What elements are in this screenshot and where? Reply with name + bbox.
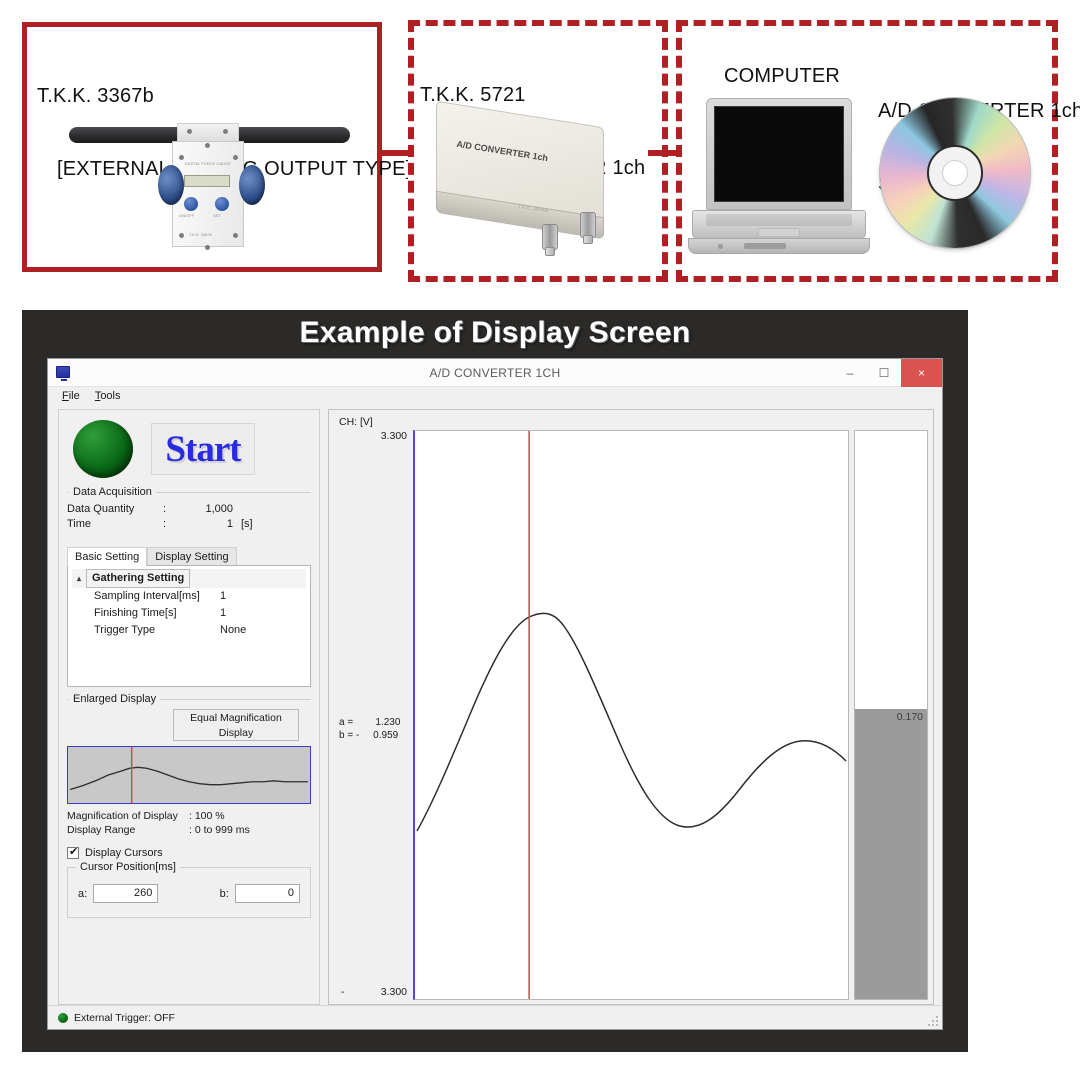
cursor-position-title: Cursor Position[ms] [76, 861, 180, 873]
expand-collapse-icon[interactable]: ▴ [72, 570, 86, 587]
device-micro-text: DIGITAL FORCE GAUGE [185, 161, 231, 166]
cursor-b-input[interactable]: 0 [235, 884, 301, 903]
handlebar-left-icon [69, 127, 187, 143]
cursor-position-group: Cursor Position[ms] a: 260 b: 0 [67, 867, 311, 918]
property-key: Finishing Time[s] [94, 605, 220, 622]
screw-icon [205, 143, 210, 148]
resize-grip-icon[interactable] [926, 1014, 938, 1026]
property-row-finishing-time[interactable]: Finishing Time[s] 1 [72, 605, 306, 622]
label-time: Time [67, 517, 163, 532]
laptop-trackpad [758, 228, 800, 237]
screw-icon [179, 233, 184, 238]
colon: : [163, 517, 179, 532]
menu-bar: File Tools [48, 387, 942, 409]
device-micro-text: T.K.K. 3367b [189, 232, 212, 237]
row-time: Time : 1 [s] [67, 517, 311, 532]
handlebar-right-icon [232, 127, 350, 143]
thumbnail-waveform [68, 747, 310, 803]
device-micro-text: SET [213, 213, 221, 218]
close-button[interactable]: × [901, 359, 942, 387]
left-control-panel: Start Data Acquisition Data Quantity : 1… [58, 409, 320, 1005]
cursor-readout-b: b = - 0.959 [339, 730, 398, 741]
start-row: Start [67, 416, 311, 482]
label-display-range: Display Range [67, 823, 189, 837]
data-acquisition-group: Data Acquisition Data Quantity : 1,000 T… [67, 492, 311, 532]
menu-item-file[interactable]: File [62, 387, 92, 404]
menu-item-tools[interactable]: Tools [95, 387, 133, 404]
waveform-plot[interactable] [413, 430, 849, 1000]
waveform-trace [417, 613, 846, 831]
level-gauge-value: 0.170 [897, 711, 923, 723]
maximize-button[interactable]: ☐ [867, 359, 901, 387]
chart-axis-label: CH: [V] [335, 415, 928, 430]
checkbox-icon[interactable] [67, 847, 79, 859]
y-axis-min-sign: - [341, 986, 345, 998]
y-axis: 3.300 a = 1.230 b = - 0.959 - 3.300 [335, 430, 413, 1000]
property-key: Trigger Type [94, 622, 220, 639]
display-cursors-label: Display Cursors [85, 847, 163, 859]
property-value: 1 [220, 605, 226, 622]
eq-btn-line1: Equal Magnification [174, 711, 298, 726]
property-grid-header[interactable]: ▴ Gathering Setting [72, 569, 306, 588]
level-gauge-fill: 0.170 [855, 709, 927, 999]
device-top-plate [177, 123, 239, 143]
status-lamp-icon [73, 420, 133, 478]
settings-tabstrip: Basic Setting Display Setting [67, 546, 311, 565]
laptop-disc-slot [744, 243, 786, 249]
bnc-connector-icon [583, 235, 593, 244]
label-magnification: Magnification of Display [67, 809, 189, 823]
value-time: 1 [179, 517, 233, 532]
cd-center-hole [942, 160, 968, 186]
cursor-a-label: a: [78, 888, 93, 900]
status-bar-text: External Trigger: OFF [74, 1012, 175, 1024]
screw-icon [205, 245, 210, 250]
cursor-readout: a = 1.230 b = - 0.959 [339, 716, 400, 742]
screw-icon [233, 233, 238, 238]
minimize-button[interactable]: – [833, 359, 867, 387]
wheel-right-icon [239, 165, 265, 205]
laptop-keyboard [706, 214, 852, 226]
connector-sensor-to-adc [382, 150, 410, 156]
computer-image [682, 92, 872, 268]
row-data-quantity: Data Quantity : 1,000 [67, 502, 311, 517]
y-axis-min-label: 3.300 [381, 986, 407, 998]
software-cd-image [872, 94, 1048, 264]
adc-device-image: A/D CONVERTER 1ch T.K.K. JAPAN [414, 84, 662, 262]
value-data-quantity: 1,000 [179, 502, 233, 517]
bnc-connector-icon [545, 247, 555, 256]
device-button-right-icon [215, 197, 229, 211]
property-key: Sampling Interval[ms] [94, 588, 220, 605]
external-trigger-indicator-icon [58, 1013, 68, 1023]
property-group-label: Gathering Setting [86, 569, 190, 588]
tab-display-setting[interactable]: Display Setting [147, 547, 236, 565]
label-data-quantity: Data Quantity [67, 502, 163, 517]
menu-tools-rest: ools [100, 390, 120, 402]
display-cursors-checkbox[interactable]: Display Cursors [67, 847, 311, 859]
menu-file-rest: ile [69, 390, 80, 402]
device-button-left-icon [184, 197, 198, 211]
waveform-svg [415, 431, 848, 999]
start-button[interactable]: Start [151, 423, 255, 475]
property-value: 1 [220, 588, 226, 605]
unit-data-quantity [233, 502, 241, 517]
screw-icon [223, 129, 228, 134]
start-button-label: Start [165, 428, 240, 471]
diagram-box-computer: COMPUTER A/D CONVERTER 1ch SOFTWARE [676, 20, 1058, 282]
cursor-b-label: b: [220, 888, 235, 900]
unit-time: [s] [233, 517, 253, 532]
status-bar: External Trigger: OFF [48, 1005, 942, 1029]
row-display-range: Display Range : 0 to 999 ms [67, 823, 311, 837]
sensor-device-image: DIGITAL FORCE GAUGE ON/OFF SET T.K.K. 33… [27, 99, 377, 269]
property-row-sampling-interval[interactable]: Sampling Interval[ms] 1 [72, 588, 306, 605]
level-gauge: 0.170 [854, 430, 928, 1000]
tab-basic-setting[interactable]: Basic Setting [67, 547, 147, 566]
computer-label: COMPUTER [724, 64, 840, 88]
screw-icon [233, 155, 238, 160]
property-row-trigger-type[interactable]: Trigger Type None [72, 622, 306, 639]
screw-icon [179, 155, 184, 160]
y-axis-max-label: 3.300 [381, 430, 407, 442]
diagram-box-adc: T.K.K. 5721 A/D CONVERTER 1ch A/D CONVER… [408, 20, 668, 282]
eq-btn-line2: Display [174, 726, 298, 741]
laptop-port-icon [718, 244, 723, 249]
enlarged-display-thumbnail[interactable] [67, 746, 311, 804]
window-titlebar: A/D CONVERTER 1CH – ☐ × [48, 359, 942, 387]
application-window: A/D CONVERTER 1CH – ☐ × File Tools Start [47, 358, 943, 1030]
enlarged-display-group: Enlarged Display Equal Magnification Dis… [67, 699, 311, 837]
enlarged-display-title: Enlarged Display [69, 693, 160, 705]
property-value: None [220, 622, 246, 639]
laptop-screen [714, 106, 844, 202]
wheel-left-icon [158, 165, 184, 205]
example-banner-title: Example of Display Screen [22, 316, 968, 350]
device-lcd [184, 175, 230, 187]
window-title: A/D CONVERTER 1CH [48, 359, 942, 387]
value-display-range: : 0 to 999 ms [189, 823, 250, 837]
cursor-readout-a: a = 1.230 [339, 717, 400, 728]
cursor-a-input[interactable]: 260 [93, 884, 159, 903]
chart-panel: CH: [V] 3.300 a = 1.230 b = - 0.959 - 3.… [328, 409, 934, 1005]
colon: : [163, 502, 179, 517]
example-screen-frame: Example of Display Screen A/D CONVERTER … [22, 310, 968, 1052]
data-acquisition-title: Data Acquisition [69, 486, 156, 498]
equal-magnification-display-button[interactable]: Equal Magnification Display [173, 709, 299, 741]
property-grid: ▴ Gathering Setting Sampling Interval[ms… [67, 565, 311, 687]
device-micro-text: ON/OFF [179, 213, 194, 218]
diagram-box-sensor: T.K.K. 3367b [EXTERNAL ANALOG OUTPUT TYP… [22, 22, 382, 272]
value-magnification: : 100 % [189, 809, 225, 823]
row-magnification: Magnification of Display : 100 % [67, 809, 311, 823]
screw-icon [187, 129, 192, 134]
